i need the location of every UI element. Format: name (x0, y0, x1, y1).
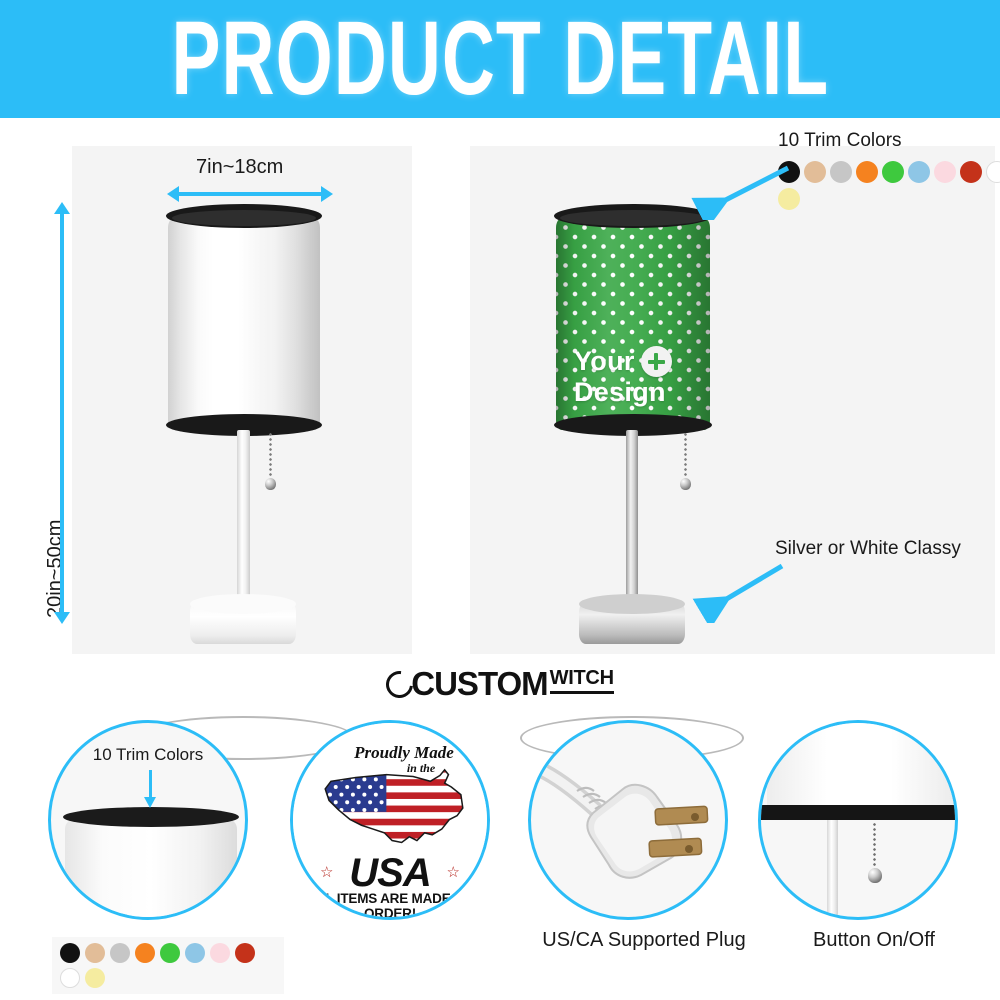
lamp-pole-white (237, 430, 250, 602)
trim-colors-heading: 10 Trim Colors (778, 130, 1000, 152)
swatch-bottom-orange[interactable] (135, 943, 155, 963)
feature-switch: Button On/Off (758, 720, 990, 952)
plus-icon[interactable] (641, 346, 672, 377)
pull-chain-ball-custom[interactable] (680, 478, 691, 490)
trim-swatch-list-bottom (52, 937, 284, 994)
trim-swatch-list (778, 161, 1000, 210)
swatch-tan[interactable] (804, 161, 826, 183)
trim-ring-top-inner (172, 210, 316, 226)
trim-ring-closeup-switch (758, 805, 958, 820)
pull-chain-ball[interactable] (265, 478, 276, 490)
your-design-overlay: Your Design (574, 346, 710, 408)
swatch-bottom-light-blue[interactable] (185, 943, 205, 963)
photo-backdrop-far-right (820, 146, 995, 654)
design-text-line2: Design (574, 377, 710, 408)
swatch-bottom-pink[interactable] (210, 943, 230, 963)
power-plug-icon (537, 751, 727, 901)
lamp-base-silver-top (579, 594, 685, 614)
swatch-bottom-red[interactable] (235, 943, 255, 963)
swatch-pink[interactable] (934, 161, 956, 183)
lamp-pole-closeup (827, 820, 838, 920)
base-finish-pointer-arrow (690, 558, 795, 623)
feature-circle-plug (528, 720, 728, 920)
trim-ring-top-custom-inner (560, 210, 706, 226)
lamp-base-white-top (190, 594, 296, 614)
feature-plug: US/CA Supported Plug (528, 720, 760, 952)
lamp-shade-custom[interactable]: Your Design (556, 218, 710, 430)
brand-logo: CUSTOM WITCH (0, 665, 1000, 703)
feature-circle-trim: 10 Trim Colors (48, 720, 248, 920)
feature-trim-colors: 10 Trim Colors (48, 720, 280, 920)
header-banner: PRODUCT DETAIL (0, 0, 1000, 118)
swatch-light-blue[interactable] (908, 161, 930, 183)
swatch-green[interactable] (882, 161, 904, 183)
swatch-white[interactable] (986, 161, 1000, 183)
trim-colors-panel: 10 Trim Colors (778, 130, 1000, 210)
swatch-bottom-white[interactable] (60, 968, 80, 988)
trim-colors-pointer-arrow (690, 160, 800, 220)
pull-chain[interactable] (269, 432, 272, 480)
trim-colors-inner-arrow (149, 770, 152, 798)
swatch-bottom-tan[interactable] (85, 943, 105, 963)
logo-custom-text: CUSTOM (411, 665, 547, 703)
page-title: PRODUCT DETAIL (171, 0, 829, 118)
swatch-orange[interactable] (856, 161, 878, 183)
usa-tagline: ALL ITEMS ARE MADE TO ORDER! (293, 891, 487, 920)
swatch-red[interactable] (960, 161, 982, 183)
trim-ring-closeup (63, 807, 239, 827)
star-icon-left: ☆ (320, 863, 333, 881)
shade-closeup-switch (767, 720, 958, 805)
swatch-bottom-black[interactable] (60, 943, 80, 963)
product-stage: 7in~18cm 20in~50cm (0, 118, 1000, 658)
logo-witch-text: WITCH (550, 667, 614, 694)
width-dimension-arrow (178, 192, 322, 196)
width-dimension-label: 7in~18cm (196, 156, 283, 179)
star-icon-right: ☆ (447, 863, 460, 881)
swatch-gray[interactable] (830, 161, 852, 183)
pull-chain-custom[interactable] (684, 432, 687, 480)
lamp-pole-silver (626, 430, 638, 602)
usa-script-top: Proudly Made (354, 743, 454, 762)
feature-circle-usa: Proudly Made in the (290, 720, 490, 920)
lamp-shade-white (168, 218, 320, 430)
base-finish-label: Silver or White Classy (775, 538, 961, 560)
design-text-line1: Your (574, 346, 635, 377)
usa-flag-map-icon (316, 766, 472, 852)
swatch-bottom-yellow[interactable] (85, 968, 105, 988)
shade-closeup (65, 819, 237, 920)
feature-made-in-usa: Proudly Made in the (290, 720, 522, 920)
height-dimension-arrow (60, 213, 64, 613)
swatch-bottom-gray[interactable] (110, 943, 130, 963)
usa-badge: Proudly Made in the (293, 723, 487, 917)
feature-circle-switch (758, 720, 958, 920)
swatch-bottom-green[interactable] (160, 943, 180, 963)
switch-caption: Button On/Off (758, 929, 990, 952)
trim-colors-inner-label: 10 Trim Colors (51, 745, 245, 765)
pull-chain-ball-closeup[interactable] (868, 868, 882, 883)
pull-chain-closeup[interactable] (873, 822, 876, 870)
plug-caption: US/CA Supported Plug (528, 929, 760, 952)
